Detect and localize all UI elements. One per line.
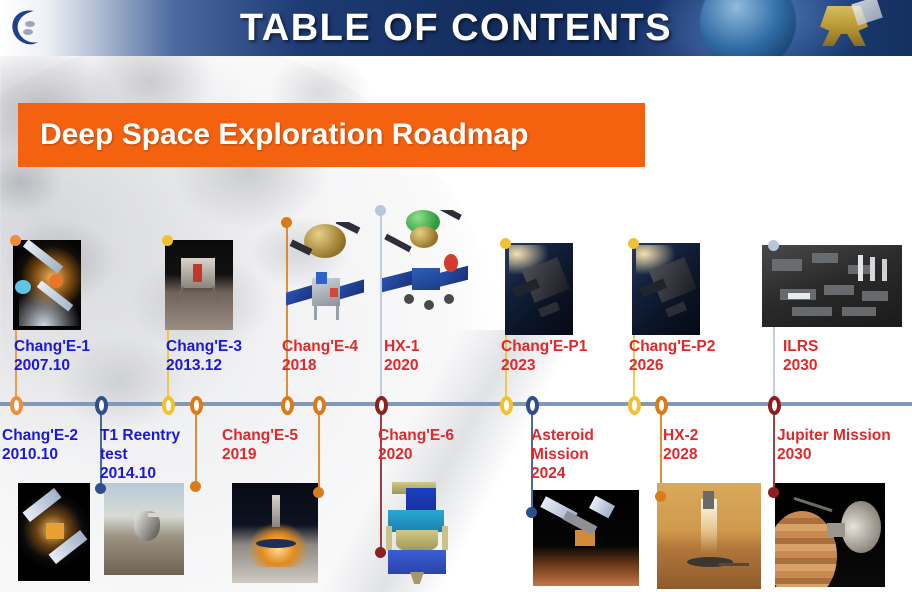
timeline-stem-cap (313, 487, 324, 498)
timeline-label: HX-2 2028 (663, 426, 759, 464)
timeline-stem-cap (281, 217, 292, 228)
change4-lander-rover-render (286, 222, 364, 332)
timeline-stem-cap (628, 238, 639, 249)
timeline-stem-cap (526, 507, 537, 518)
timeline-label: T1 Reentry test 2014.10 (100, 426, 204, 483)
ilrs-lunar-base-photo (762, 245, 902, 327)
change5-ascent-photo (232, 483, 318, 583)
changeP1-spacecraft-photo (505, 243, 573, 335)
timeline-label: Chang'E-2 2010.10 (2, 426, 98, 464)
change2-satellite-photo (18, 483, 90, 581)
swoosh-logo-icon (4, 4, 52, 52)
change1-satellite-photo (13, 240, 81, 330)
change3-lander-photo (165, 240, 233, 330)
timeline-label: Chang'E-4 2018 (282, 337, 374, 375)
asteroid-probe-photo (533, 490, 639, 586)
slide-header: TABLE OF CONTENTS (0, 0, 912, 56)
timeline-label: Chang'E-5 2019 (222, 426, 318, 464)
change6-spacecraft-render (380, 478, 454, 586)
timeline-node[interactable] (162, 396, 175, 415)
timeline-label: Chang'E-P1 2023 (501, 337, 613, 375)
timeline-node[interactable] (768, 396, 781, 415)
slide-canvas: TABLE OF CONTENTS Deep Space Exploration… (0, 0, 912, 592)
timeline-node[interactable] (375, 396, 388, 415)
timeline-label: Chang'E-6 2020 (378, 426, 482, 464)
changeP2-spacecraft-photo (632, 243, 700, 335)
timeline-stem (318, 404, 320, 492)
timeline-node[interactable] (313, 396, 326, 415)
t1-reentry-capsule-photo (104, 483, 184, 575)
timeline-label: Chang'E-P2 2026 (629, 337, 741, 375)
timeline-node[interactable] (10, 396, 23, 415)
timeline-node[interactable] (500, 396, 513, 415)
timeline-label: HX-1 2020 (384, 337, 476, 375)
timeline-stem-cap (95, 483, 106, 494)
timeline-stem-cap (190, 481, 201, 492)
timeline-stem-cap (375, 547, 386, 558)
jupiter-probe-photo (775, 483, 885, 587)
section-title-text: Deep Space Exploration Roadmap (18, 118, 528, 152)
timeline-stem-cap (500, 238, 511, 249)
timeline-node[interactable] (281, 396, 294, 415)
hx1-orbiter-rover-render (382, 210, 468, 328)
timeline-label: Chang'E-3 2013.12 (166, 337, 266, 375)
timeline-node[interactable] (95, 396, 108, 415)
timeline-label: Asteroid Mission 2024 (531, 426, 627, 483)
timeline-node[interactable] (628, 396, 641, 415)
timeline-stem-cap (768, 240, 779, 251)
timeline-label: Jupiter Mission 2030 (777, 426, 912, 464)
timeline-node[interactable] (655, 396, 668, 415)
timeline-label: Chang'E-1 2007.10 (14, 337, 114, 375)
timeline-stem-cap (655, 491, 666, 502)
page-title: TABLE OF CONTENTS (0, 0, 912, 56)
timeline-node[interactable] (190, 396, 203, 415)
timeline-label: ILRS 2030 (783, 337, 903, 375)
section-title-banner: Deep Space Exploration Roadmap (18, 103, 645, 167)
timeline-stem-cap (768, 487, 779, 498)
timeline-node[interactable] (526, 396, 539, 415)
timeline-stem (773, 404, 775, 492)
timeline-stem-cap (375, 205, 386, 216)
hx2-mars-ascent-photo (657, 483, 761, 589)
timeline-stem-cap (162, 235, 173, 246)
timeline-stem-cap (10, 235, 21, 246)
